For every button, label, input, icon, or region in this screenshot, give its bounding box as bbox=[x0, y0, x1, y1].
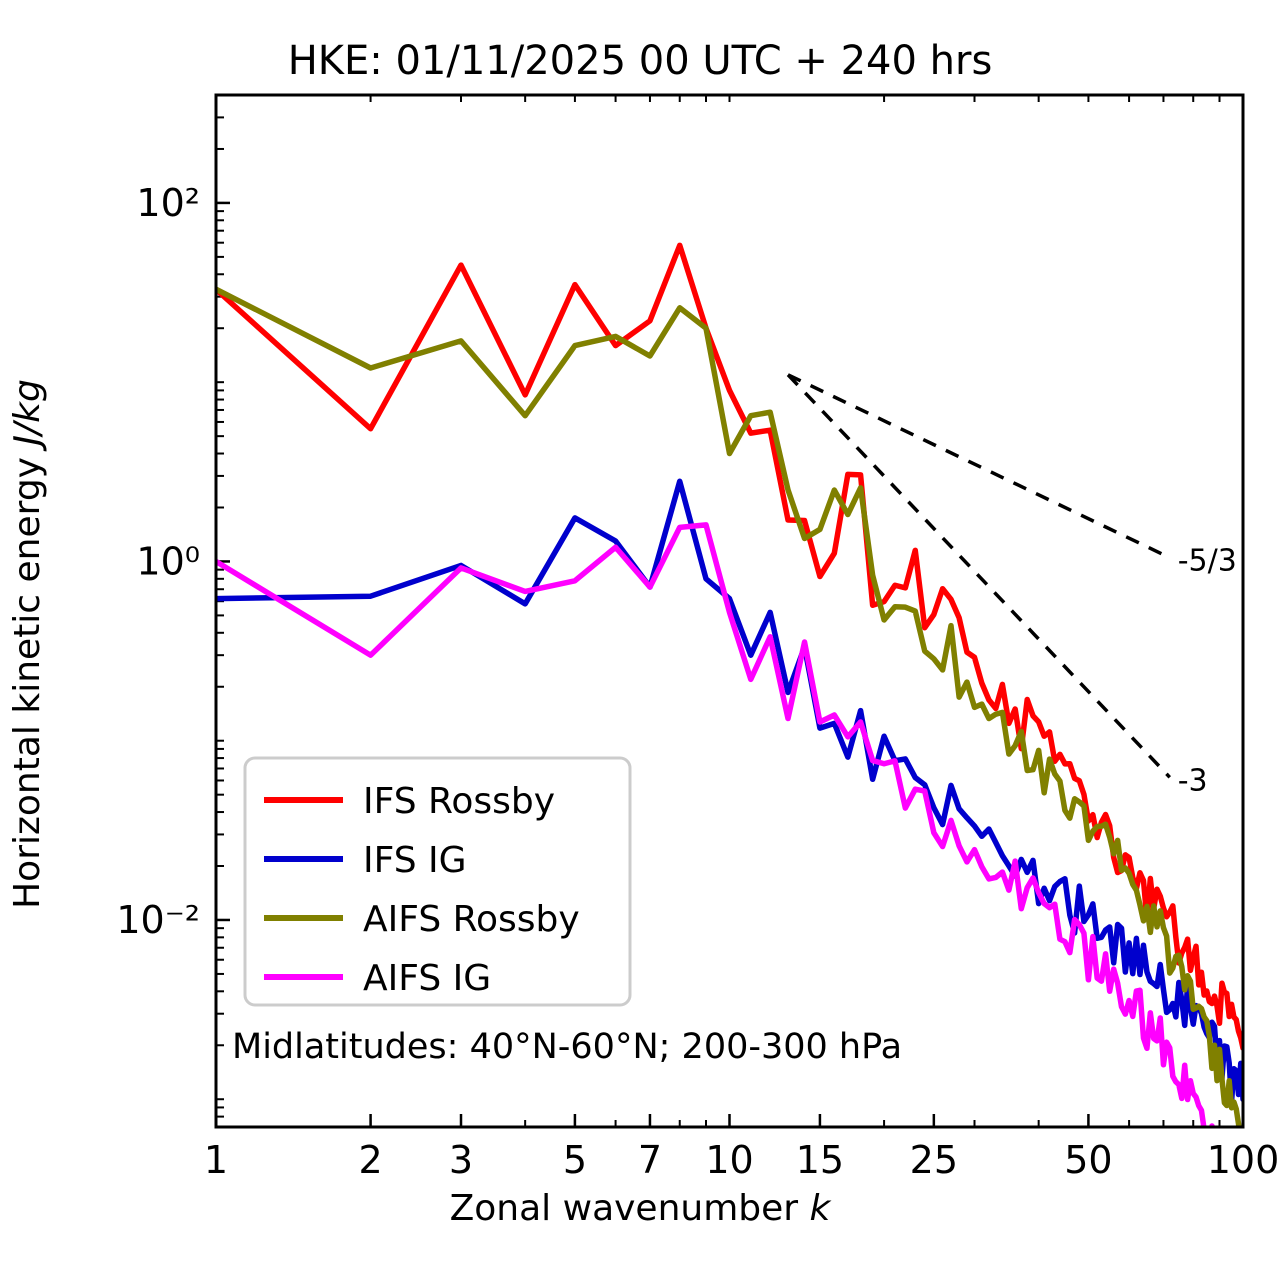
y-tick-label: 10² bbox=[136, 181, 200, 225]
x-tick-label: 25 bbox=[910, 1138, 958, 1182]
legend-label-0: IFS Rossby bbox=[363, 781, 555, 822]
x-tick-label: 5 bbox=[563, 1138, 587, 1182]
plot-annotation: Midlatitudes: 40°N-60°N; 200-300 hPa bbox=[232, 1027, 902, 1067]
x-tick-label: 100 bbox=[1207, 1138, 1280, 1182]
x-tick-label: 15 bbox=[796, 1138, 844, 1182]
x-axis-label: Zonal wavenumber k bbox=[0, 1188, 1280, 1229]
x-tick-label: 3 bbox=[449, 1138, 473, 1182]
legend-label-1: IFS IG bbox=[363, 840, 467, 881]
x-tick-label: 7 bbox=[638, 1138, 662, 1182]
x-tick-label: 1 bbox=[204, 1138, 228, 1182]
x-tick-label: 50 bbox=[1064, 1138, 1112, 1182]
x-tick-label: 10 bbox=[705, 1138, 753, 1182]
reference-line-label: -5/3 bbox=[1178, 544, 1237, 579]
x-tick-label: 2 bbox=[358, 1138, 382, 1182]
reference-line-label: -3 bbox=[1178, 763, 1208, 798]
x-axis-label-symbol: k bbox=[810, 1188, 831, 1229]
x-axis-label-text: Zonal wavenumber bbox=[450, 1188, 810, 1229]
y-tick-label: 10⁰ bbox=[136, 539, 200, 583]
y-tick-label: 10⁻² bbox=[116, 898, 200, 942]
legend-label-2: AIFS Rossby bbox=[363, 899, 580, 940]
plot-area: 123571015255010010²10⁰10⁻²-5/3-3IFS Ross… bbox=[0, 0, 1280, 1288]
y-axis: 10²10⁰10⁻² bbox=[116, 181, 230, 942]
legend-label-3: AIFS IG bbox=[363, 958, 491, 999]
figure-container: HKE: 01/11/2025 00 UTC + 240 hrs 1235710… bbox=[0, 0, 1280, 1288]
legend: IFS RossbyIFS IGAIFS RossbyAIFS IG bbox=[245, 758, 630, 1005]
